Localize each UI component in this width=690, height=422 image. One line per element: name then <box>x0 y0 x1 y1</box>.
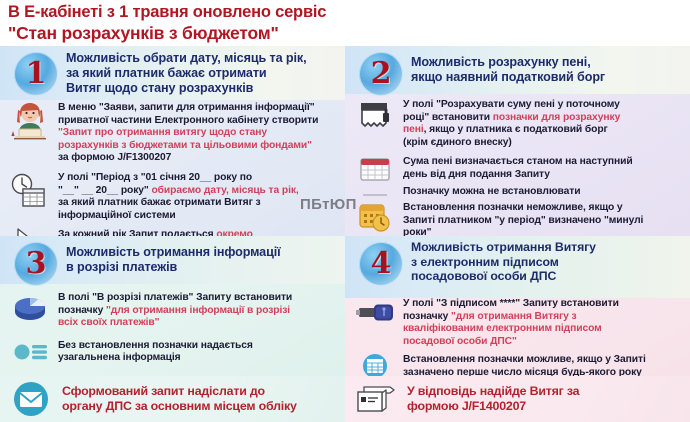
section-1-bullet-1-text: В меню "Заяви, запити для отримання інфо… <box>58 102 345 165</box>
section-3-panel: 3 Можливість отримання інформації в розр… <box>0 236 345 376</box>
infographic-page: В Е-кабінеті з 1 травня оновлено сервіс … <box>0 0 690 422</box>
title-line-1: В Е-кабінеті з 1 травня оновлено сервіс <box>8 2 690 23</box>
section-4-heading-line-1: Можливість отримання Витягу <box>411 240 686 255</box>
footer-left-line-2: органу ДПС за основним місцем обліку <box>62 399 297 414</box>
section-3-heading: Можливість отримання інформації в розріз… <box>66 245 341 275</box>
footer-left-panel: Сформований запит надіслати до органу ДП… <box>0 376 345 422</box>
section-4-bullet-1-text: У полі "З підписом ****" Запиту встанови… <box>403 298 690 348</box>
section-4-heading-line-2: з електронним підписом <box>411 255 686 270</box>
section-2-bullet-3: Позначку можна не встановлювати <box>345 186 690 199</box>
section-2-bullet-4: Встановлення позначки неможливе, якщо у … <box>345 202 690 236</box>
section-4-panel: 4 Можливість отримання Витягу з електрон… <box>345 236 690 376</box>
calendar-clock-icon <box>353 202 397 236</box>
section-3-bullet-2-text: Без встановлення позначки надається узаг… <box>58 340 345 365</box>
page-title: В Е-кабінеті з 1 травня оновлено сервіс … <box>0 0 690 46</box>
document-stack-icon <box>345 381 407 417</box>
section-1-header: 1 Можливість обрати дату, місяць та рік,… <box>0 46 345 100</box>
section-4-bullet-2: Встановлення позначки можливе, якщо у За… <box>345 354 690 376</box>
section-4-bullet-2-text: Встановлення позначки можливе, якщо у За… <box>403 354 690 376</box>
section-4-header: 4 Можливість отримання Витягу з електрон… <box>345 236 690 298</box>
section-1-bullet-2: У полі "Період з "01 січня 20__ року по … <box>0 172 345 222</box>
section-4-heading-line-3: посадовової особи ДПС <box>411 269 686 284</box>
section-1-bullet-2-text: У полі "Період з "01 січня 20__ року по … <box>58 172 345 222</box>
section-2-heading: Можливість розрахунку пені, якщо наявний… <box>411 55 686 85</box>
section-1-body: В меню "Заяви, запити для отримання інфо… <box>0 102 345 236</box>
section-1-number: 1 <box>26 59 47 89</box>
section-3-bullet-2: Без встановлення позначки надається узаг… <box>0 340 345 365</box>
section-2-header: 2 Можливість розрахунку пені, якщо наявн… <box>345 46 690 94</box>
section-4-heading: Можливість отримання Витягу з електронни… <box>411 240 686 284</box>
footer-left-text: Сформований запит надіслати до органу ДП… <box>62 384 297 414</box>
section-1-number-badge: 1 <box>14 52 58 96</box>
envelope-icon <box>0 378 62 420</box>
section-1-heading-line-3: Витяг щодо стану розрахунків <box>66 81 341 96</box>
section-2-bullet-1: У полі "Розрахувати суму пені у поточном… <box>345 99 690 149</box>
legend-list-icon <box>8 338 52 376</box>
section-3-body: В полі "В розрізі платежів" Запиту встан… <box>0 292 345 372</box>
calendar-circle-icon <box>353 352 397 376</box>
section-4-number-badge: 4 <box>359 242 403 286</box>
section-1-heading-line-2: за який платник бажає отримати <box>66 66 341 81</box>
section-4-number: 4 <box>371 249 392 279</box>
footer-right-line-1: У відповідь надійде Витяг за <box>407 384 579 399</box>
cursor-arrow-icon <box>8 225 52 236</box>
section-3-bullet-1: В полі "В розрізі платежів" Запиту встан… <box>0 292 345 330</box>
footer-right-line-2: формою J/F1400207 <box>407 399 579 414</box>
section-3-heading-line-1: Можливість отримання інформації <box>66 245 341 260</box>
person-at-laptop-icon <box>8 102 52 142</box>
title-line-2: "Стан розрахунків з бюджетом" <box>8 23 690 44</box>
section-1-heading: Можливість обрати дату, місяць та рік, з… <box>66 51 341 96</box>
section-3-bullet-1-text: В полі "В розрізі платежів" Запиту встан… <box>58 292 345 330</box>
section-2-bullet-4-text: Встановлення позначки неможливе, якщо у … <box>403 202 690 236</box>
section-2-bullet-1-text: У полі "Розрахувати суму пені у поточном… <box>403 99 690 149</box>
section-3-number: 3 <box>26 249 47 279</box>
section-4-body: У полі "З підписом ****" Запиту встанови… <box>345 298 690 376</box>
section-4-bullet-1: У полі "З підписом ****" Запиту встанови… <box>345 298 690 348</box>
usb-token-icon <box>353 298 397 338</box>
section-3-heading-line-2: в розрізі платежів <box>66 260 341 275</box>
footer-left-line-1: Сформований запит надіслати до <box>62 384 297 399</box>
clock-calendar-icon <box>8 172 52 212</box>
section-2-body: У полі "Розрахувати суму пені у поточном… <box>345 99 690 236</box>
torn-receipt-icon <box>353 99 397 139</box>
footer-right-text: У відповідь надійде Витяг за формою J/F1… <box>407 384 579 414</box>
section-2-heading-line-2: якщо наявний податковий борг <box>411 70 686 85</box>
section-1-bullet-3: За кожний рік Запит подається окремо <box>0 229 345 236</box>
footer-right-panel: У відповідь надійде Витяг за формою J/F1… <box>345 376 690 422</box>
section-2-number-badge: 2 <box>359 52 403 96</box>
section-3-number-badge: 3 <box>14 242 58 286</box>
section-2-bullet-2: Сума пені визначається станом на наступн… <box>345 156 690 181</box>
section-2-number: 2 <box>371 59 392 89</box>
section-1-bullet-1: В меню "Заяви, запити для отримання інфо… <box>0 102 345 165</box>
footer-right-row: У відповідь надійде Витяг за формою J/F1… <box>345 376 690 422</box>
section-2-bullet-3-text: Позначку можна не встановлювати <box>403 186 690 199</box>
footer-left-row: Сформований запит надіслати до органу ДП… <box>0 376 345 422</box>
section-3-header: 3 Можливість отримання інформації в розр… <box>0 236 345 284</box>
section-1-bullet-3-text: За кожний рік Запит подається окремо <box>58 229 345 236</box>
section-2-panel: 2 Можливість розрахунку пені, якщо наявн… <box>345 46 690 236</box>
section-2-heading-line-1: Можливість розрахунку пені, <box>411 55 686 70</box>
section-1-panel: 1 Можливість обрати дату, місяць та рік,… <box>0 46 345 236</box>
section-2-bullet-2-text: Сума пені визначається станом на наступн… <box>403 156 690 181</box>
section-1-heading-line-1: Можливість обрати дату, місяць та рік, <box>66 51 341 66</box>
pie-chart-icon <box>8 292 52 332</box>
